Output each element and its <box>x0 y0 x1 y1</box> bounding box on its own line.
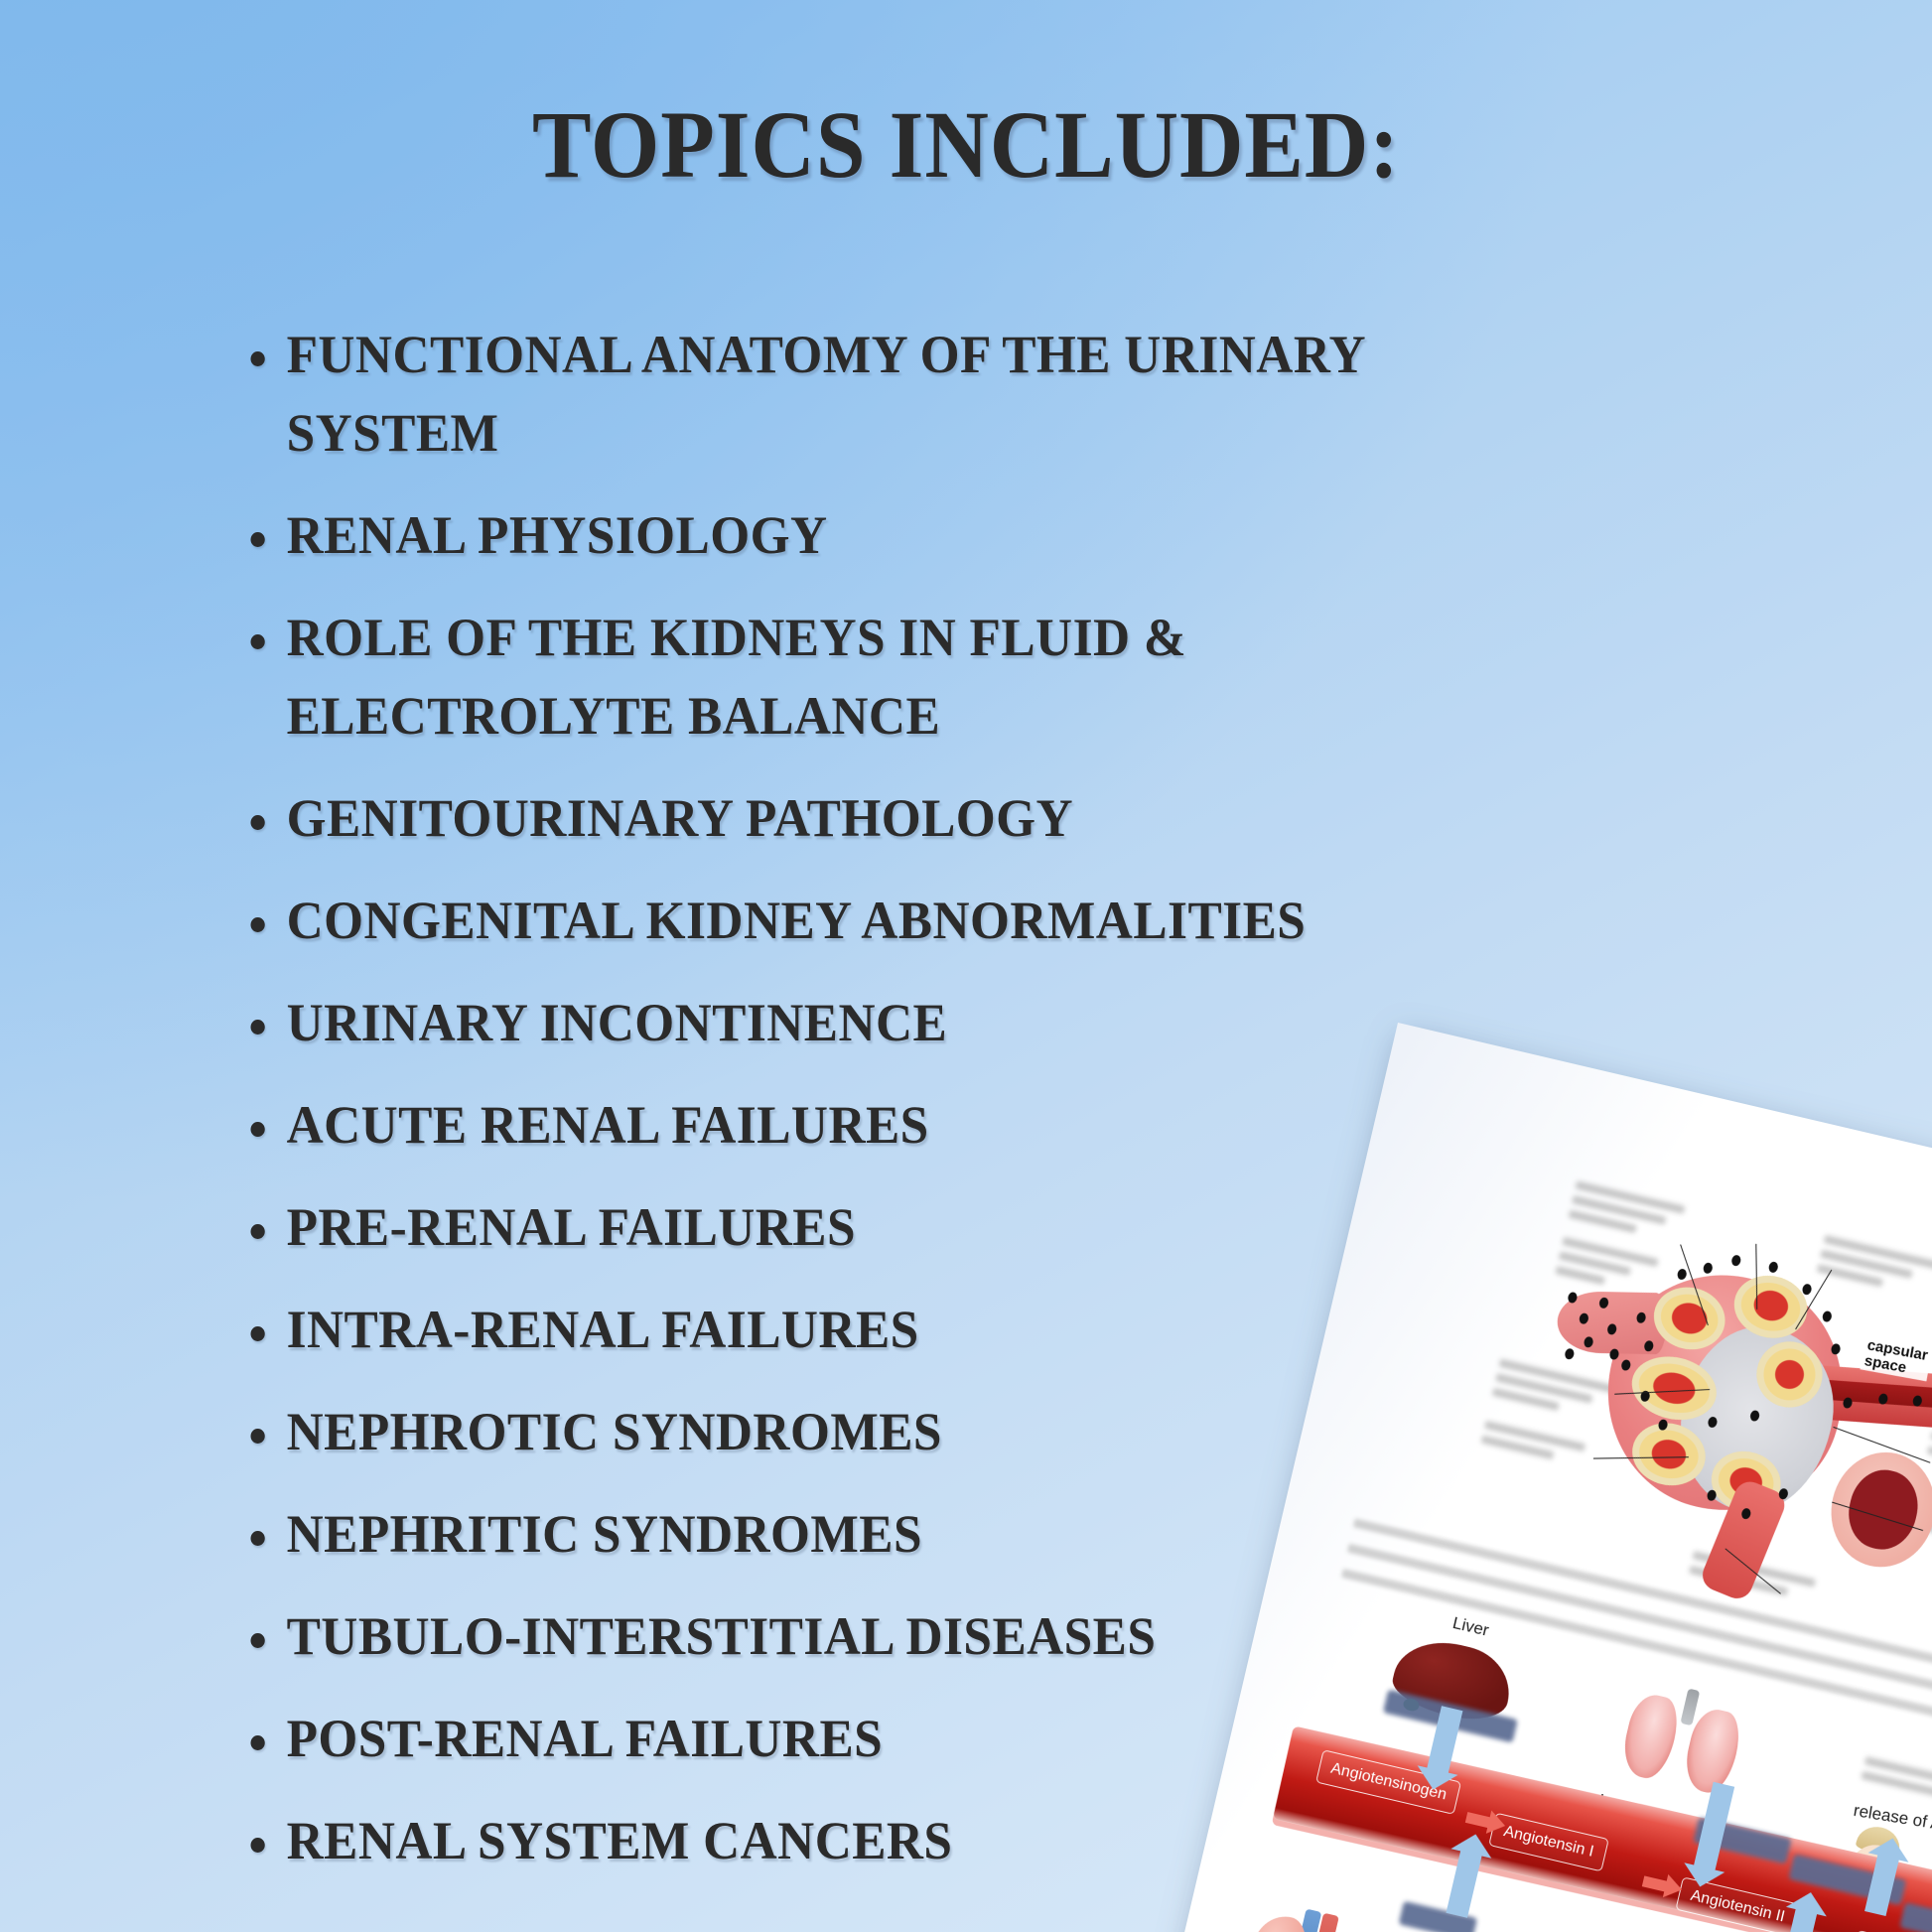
podocyte-nucleus <box>1830 1343 1841 1356</box>
podocyte-nucleus <box>1822 1311 1833 1323</box>
list-item: NEPHROTIC SYNDROMES <box>241 1393 1458 1471</box>
diagram-label-block <box>1815 1235 1932 1306</box>
trachea <box>1680 1689 1700 1726</box>
list-item: RENAL PHYSIOLOGY <box>241 496 1458 575</box>
podocyte-nucleus <box>1768 1261 1779 1274</box>
list-item: ROLE OF THE KIDNEYS IN FLUID & ELECTROLY… <box>241 599 1458 756</box>
diagram-label-block <box>1490 1359 1614 1430</box>
diagram-label-block <box>1479 1421 1594 1475</box>
enzyme-label-box <box>1899 1902 1932 1932</box>
slide-canvas: TOPICS INCLUDED: FUNCTIONAL ANATOMY OF T… <box>0 0 1932 1932</box>
podocyte-nucleus <box>1801 1283 1812 1296</box>
glomerulus-diagram: capsular space <box>1518 1190 1932 1636</box>
podocyte-nucleus <box>1730 1254 1741 1267</box>
liver-label: Liver <box>1450 1613 1490 1641</box>
diagram-label-block <box>1567 1180 1685 1249</box>
lung-lobe-left <box>1618 1691 1684 1783</box>
blood-vessel-band <box>1273 1725 1932 1932</box>
podocyte-nucleus <box>1564 1347 1575 1360</box>
list-item: CONGENITAL KIDNEY ABNORMALITIES <box>241 882 1458 960</box>
list-item: INTRA-RENAL FAILURES <box>241 1291 1458 1369</box>
lungs-illustration <box>1618 1677 1748 1797</box>
page-title: TOPICS INCLUDED: <box>68 89 1864 200</box>
list-item: PRE-RENAL FAILURES <box>241 1188 1458 1267</box>
podocyte-nucleus <box>1703 1262 1714 1275</box>
list-item: ACUTE RENAL FAILURES <box>241 1086 1458 1165</box>
list-item: FUNCTIONAL ANATOMY OF THE URINARY SYSTEM <box>241 316 1458 473</box>
flow-arrow-up <box>1447 1850 1482 1918</box>
podocyte-nucleus <box>1677 1268 1688 1281</box>
kidney-pair-illustration <box>1237 1898 1409 1932</box>
list-item: URINARY INCONTINENCE <box>241 984 1458 1062</box>
list-item: GENITOURINARY PATHOLOGY <box>241 779 1458 858</box>
